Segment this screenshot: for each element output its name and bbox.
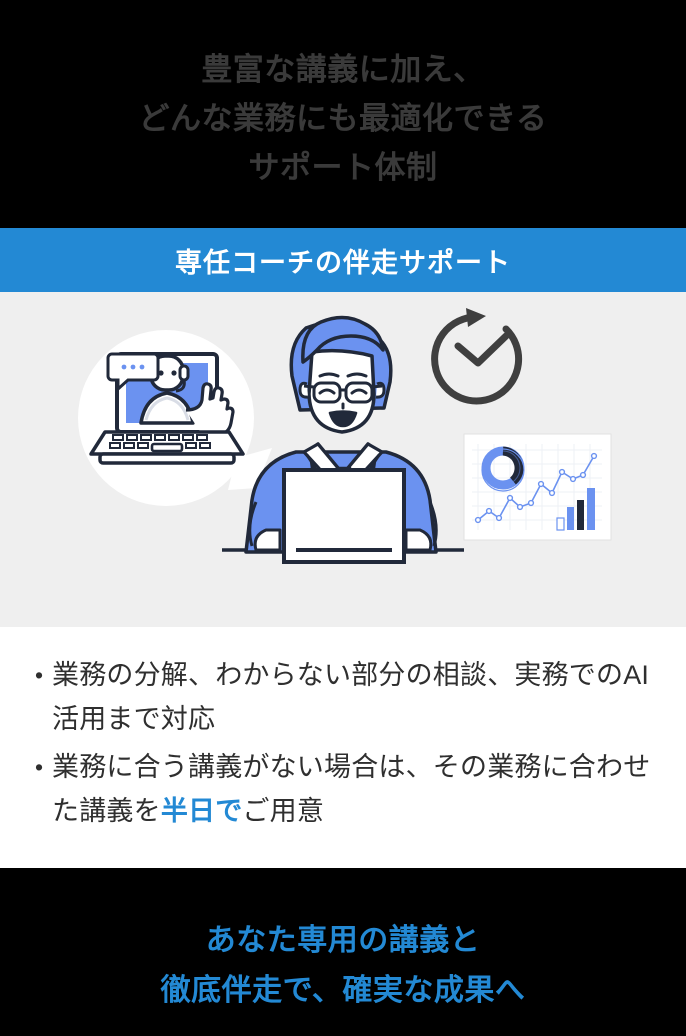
- header-line-1: 豊富な講義に加え、: [201, 45, 485, 94]
- bullet-2-segment-0: 業務に合う講義がない場合は、その業務に合わせた講義を: [52, 752, 650, 826]
- list-item: • 業務の分解、わからない部分の相談、実務でのAI活用まで対応: [26, 653, 660, 741]
- bullet-2-highlight: 半日で: [161, 796, 243, 826]
- illustration-section: [0, 292, 686, 627]
- analytics-card: [464, 434, 611, 540]
- header-line-3: サポート体制: [249, 143, 438, 192]
- bullet-text-1: 業務の分解、わからない部分の相談、実務でのAI活用まで対応: [52, 653, 660, 741]
- bullet-section: • 業務の分解、わからない部分の相談、実務でのAI活用まで対応 • 業務に合う講…: [0, 627, 686, 868]
- header-line-2: どんな業務にも最適化できる: [139, 94, 548, 143]
- bullet-1-segment-0: 業務の分解、わからない部分の相談、実務でのAI活用まで対応: [52, 660, 649, 734]
- header-section: 豊富な講義に加え、 どんな業務にも最適化できる サポート体制: [0, 0, 686, 228]
- section-banner: 専任コーチの伴走サポート: [0, 228, 686, 292]
- footer-line-1: あなた専用の講義と: [206, 916, 481, 966]
- banner-label: 専任コーチの伴走サポート: [175, 241, 511, 280]
- illustration-svg: [0, 292, 686, 627]
- list-item: • 業務に合う講義がない場合は、その業務に合わせた講義を半日でご用意: [26, 745, 660, 833]
- bullet-marker-icon: •: [26, 745, 52, 789]
- footer-section: あなた専用の講義と 徹底伴走で、確実な成果へ: [0, 868, 686, 1036]
- bullet-marker-icon: •: [26, 653, 52, 697]
- laptop-robot-bubble: [78, 330, 272, 506]
- bullet-text-2: 業務に合う講義がない場合は、その業務に合わせた講義を半日でご用意: [52, 745, 660, 833]
- bullet-2-segment-2: ご用意: [242, 796, 324, 826]
- businessman: [246, 317, 436, 562]
- clock-refresh-icon: [435, 308, 519, 401]
- footer-line-2: 徹底伴走で、確実な成果へ: [161, 966, 526, 1016]
- promo-card: 豊富な講義に加え、 どんな業務にも最適化できる サポート体制 専任コーチの伴走サ…: [0, 0, 686, 1036]
